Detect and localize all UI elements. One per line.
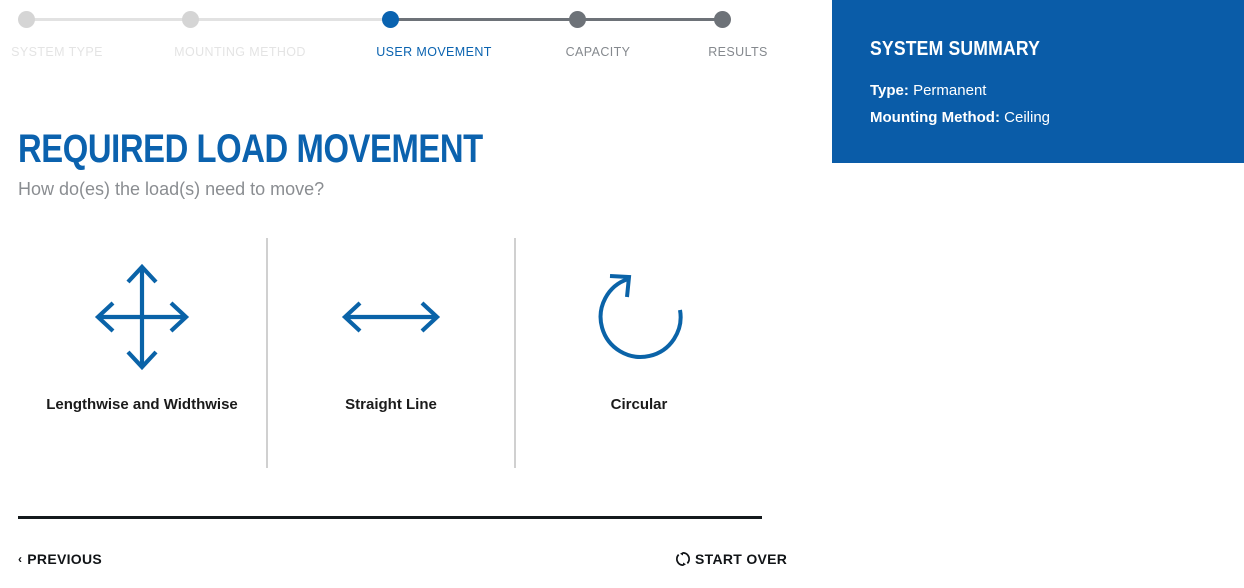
page-title: REQUIRED LOAD MOVEMENT (18, 127, 483, 171)
summary-key: Mounting Method: (870, 109, 1000, 126)
stepper-segment-3 (390, 18, 577, 21)
stepper-segment-4 (577, 18, 722, 21)
sync-refresh-icon (676, 552, 690, 566)
summary-value: Ceiling (1004, 109, 1050, 126)
option-straight-line[interactable]: Straight Line (266, 238, 514, 468)
summary-heading: SYSTEM SUMMARY (870, 38, 1166, 61)
stepper-label-results[interactable]: RESULTS (708, 45, 768, 59)
stepper-label-mounting-method[interactable]: MOUNTING METHOD (174, 45, 306, 59)
progress-stepper: SYSTEM TYPE MOUNTING METHOD USER MOVEMEN… (0, 0, 832, 72)
page-subtitle: How do(es) the load(s) need to move? (18, 177, 324, 201)
summary-row-mounting-method: Mounting Method: Ceiling (870, 104, 1206, 131)
summary-value: Permanent (913, 82, 986, 99)
option-label: Circular (611, 396, 668, 413)
stepper-segment-1 (26, 18, 190, 21)
stepper-dot-mounting-method[interactable] (182, 11, 199, 28)
stepper-dot-results[interactable] (714, 11, 731, 28)
option-lengthwise-and-widthwise[interactable]: Lengthwise and Widthwise (18, 238, 266, 468)
footer-divider (18, 516, 762, 519)
chevron-left-icon: ‹ (18, 553, 22, 565)
start-over-button[interactable]: START OVER (676, 551, 787, 567)
summary-row-type: Type: Permanent (870, 77, 1206, 104)
stepper-label-system-type[interactable]: SYSTEM TYPE (11, 45, 103, 59)
stepper-segment-2 (190, 18, 390, 21)
previous-button[interactable]: ‹ PREVIOUS (18, 551, 102, 567)
system-summary-panel: SYSTEM SUMMARY Type: Permanent Mounting … (832, 0, 1244, 163)
stepper-label-capacity[interactable]: CAPACITY (566, 45, 631, 59)
wizard-page: SYSTEM TYPE MOUNTING METHOD USER MOVEMEN… (0, 0, 1244, 588)
circular-arrow-icon (516, 238, 762, 396)
stepper-label-user-movement[interactable]: USER MOVEMENT (376, 45, 492, 59)
stepper-dot-system-type[interactable] (18, 11, 35, 28)
movement-options: Lengthwise and Widthwise Straight Line C… (18, 238, 762, 468)
stepper-dot-capacity[interactable] (569, 11, 586, 28)
four-way-arrow-icon (18, 238, 266, 396)
summary-key: Type: (870, 82, 909, 99)
previous-label: PREVIOUS (27, 551, 102, 567)
option-circular[interactable]: Circular (514, 238, 762, 468)
horizontal-double-arrow-icon (268, 238, 514, 396)
stepper-dot-user-movement[interactable] (382, 11, 399, 28)
option-label: Lengthwise and Widthwise (46, 396, 238, 413)
start-over-label: START OVER (695, 551, 787, 567)
option-label: Straight Line (345, 396, 437, 413)
